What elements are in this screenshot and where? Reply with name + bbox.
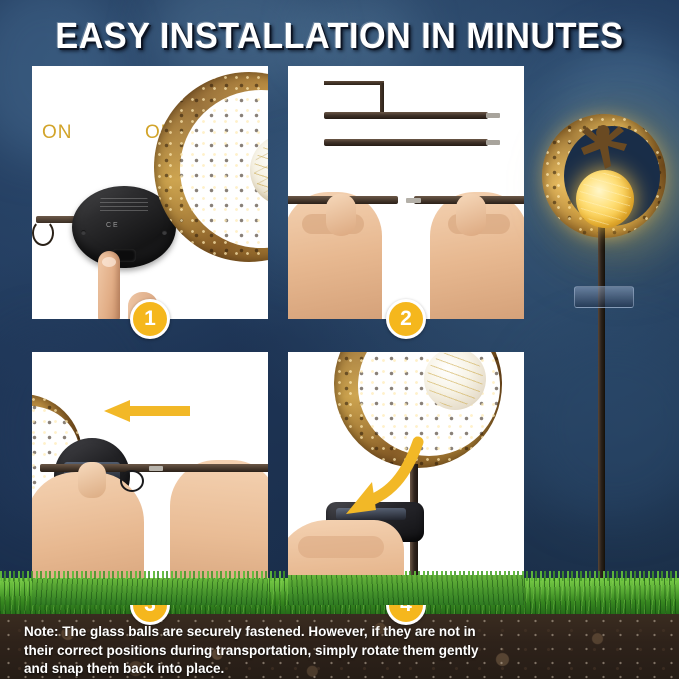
step-panel-3-image [32,352,268,605]
solar-panel-icon [574,286,634,308]
step-badge-1: 1 [130,299,170,339]
stake-rod-upper-icon [324,112,488,119]
label-on: ON [42,122,73,144]
curved-down-arrow-icon [332,436,424,522]
rod-connector-icon [149,466,163,471]
step-panel-2-image [288,66,524,319]
grass-strip [32,579,268,605]
right-thumb-icon [456,194,486,236]
crescent-moon-lamp-icon [154,72,268,262]
left-arrow-icon [104,400,190,422]
step-panel-2: 2 [288,66,524,319]
step-panel-4-image [288,352,524,605]
page-title: EASY INSTALLATION IN MINUTES [17,16,662,56]
rod-connector-icon [406,198,421,203]
product-hero [536,96,679,616]
wire-loop-icon [120,470,144,492]
screw-icon [81,230,86,235]
step-panel-3: 3 [32,352,268,605]
label-marking [100,198,148,214]
step-panel-4: 4 [288,352,524,605]
stake-rod-lower-icon [324,139,488,146]
step-panel-1-image: ON OFF CE [32,66,268,319]
stake-hook-horizontal-icon [324,81,384,85]
footer-note: Note: The glass balls are securely faste… [24,623,494,679]
crescent-moon-lamp-icon [542,114,666,238]
step-badge-2: 2 [386,299,426,339]
pressing-finger-icon [98,251,120,319]
grass-strip [288,575,524,605]
ground-stake-icon [598,224,605,616]
fairy-silhouette-icon [572,120,634,186]
step-panel-1: ON OFF CE 1 [32,66,268,319]
left-thumb-icon [326,194,356,236]
finger-icon [78,462,106,498]
ce-mark-icon: CE [106,222,120,229]
stake-hook-vertical-icon [380,83,384,113]
